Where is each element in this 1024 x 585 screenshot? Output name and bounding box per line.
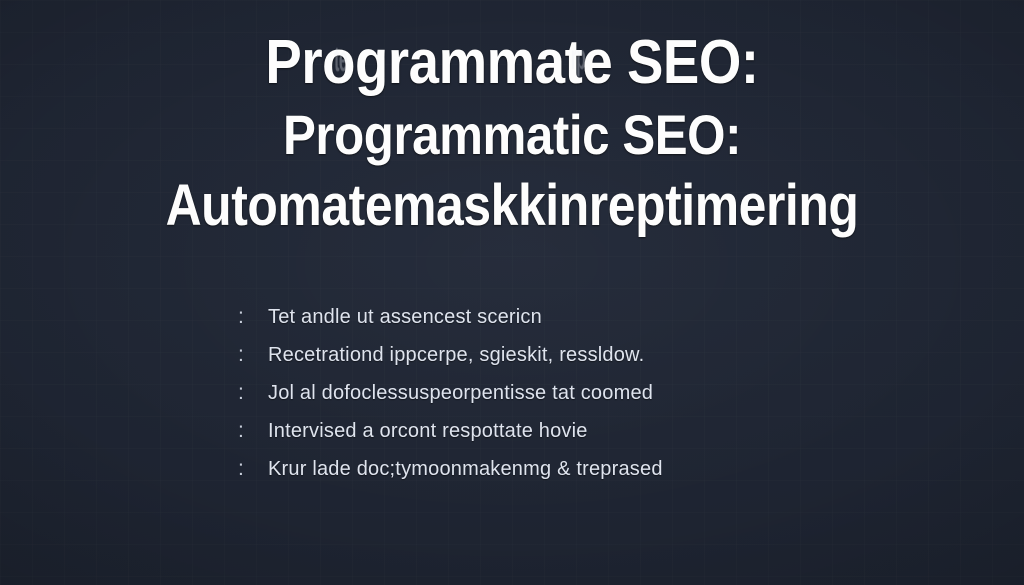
bullet-text: Recetrationd ippcerpe, sgieskit, ressldo… bbox=[268, 336, 644, 374]
list-item: : Tet andle ut assencest scericn bbox=[238, 298, 663, 336]
bullet-marker-icon: : bbox=[238, 336, 268, 374]
bullet-marker-icon: : bbox=[238, 412, 268, 450]
slide-title-line-2: Programmatic SEO: bbox=[61, 100, 962, 170]
bullet-marker-icon: : bbox=[238, 374, 268, 412]
bullet-text: Tet andle ut assencest scericn bbox=[268, 298, 542, 336]
slide-title-line-3: Automatemaskkinreptimering bbox=[72, 170, 953, 242]
slide-title-block: Programmate SEO: Programmatic SEO: Autom… bbox=[0, 26, 1024, 242]
slide-bullet-list: : Tet andle ut assencest scericn : Recet… bbox=[238, 298, 663, 488]
list-item: : Recetrationd ippcerpe, sgieskit, ressl… bbox=[238, 336, 663, 374]
bullet-marker-icon: : bbox=[238, 298, 268, 336]
bullet-text: Krur lade doc;tymoonmakenmg & treprased bbox=[268, 450, 663, 488]
bullet-text: Intervised a orcont respottate hovie bbox=[268, 412, 588, 450]
list-item: : Krur lade doc;tymoonmakenmg & treprase… bbox=[238, 450, 663, 488]
bullet-text: Jol al dofoclessuspeorpentisse tat coome… bbox=[268, 374, 653, 412]
list-item: : Intervised a orcont respottate hovie bbox=[238, 412, 663, 450]
bullet-marker-icon: : bbox=[238, 450, 268, 488]
list-item: : Jol al dofoclessuspeorpentisse tat coo… bbox=[238, 374, 663, 412]
slide-title-line-1: Programmate SEO: bbox=[61, 26, 962, 100]
presentation-slide: Programmate SEO: Programmatic SEO: Autom… bbox=[0, 0, 1024, 585]
